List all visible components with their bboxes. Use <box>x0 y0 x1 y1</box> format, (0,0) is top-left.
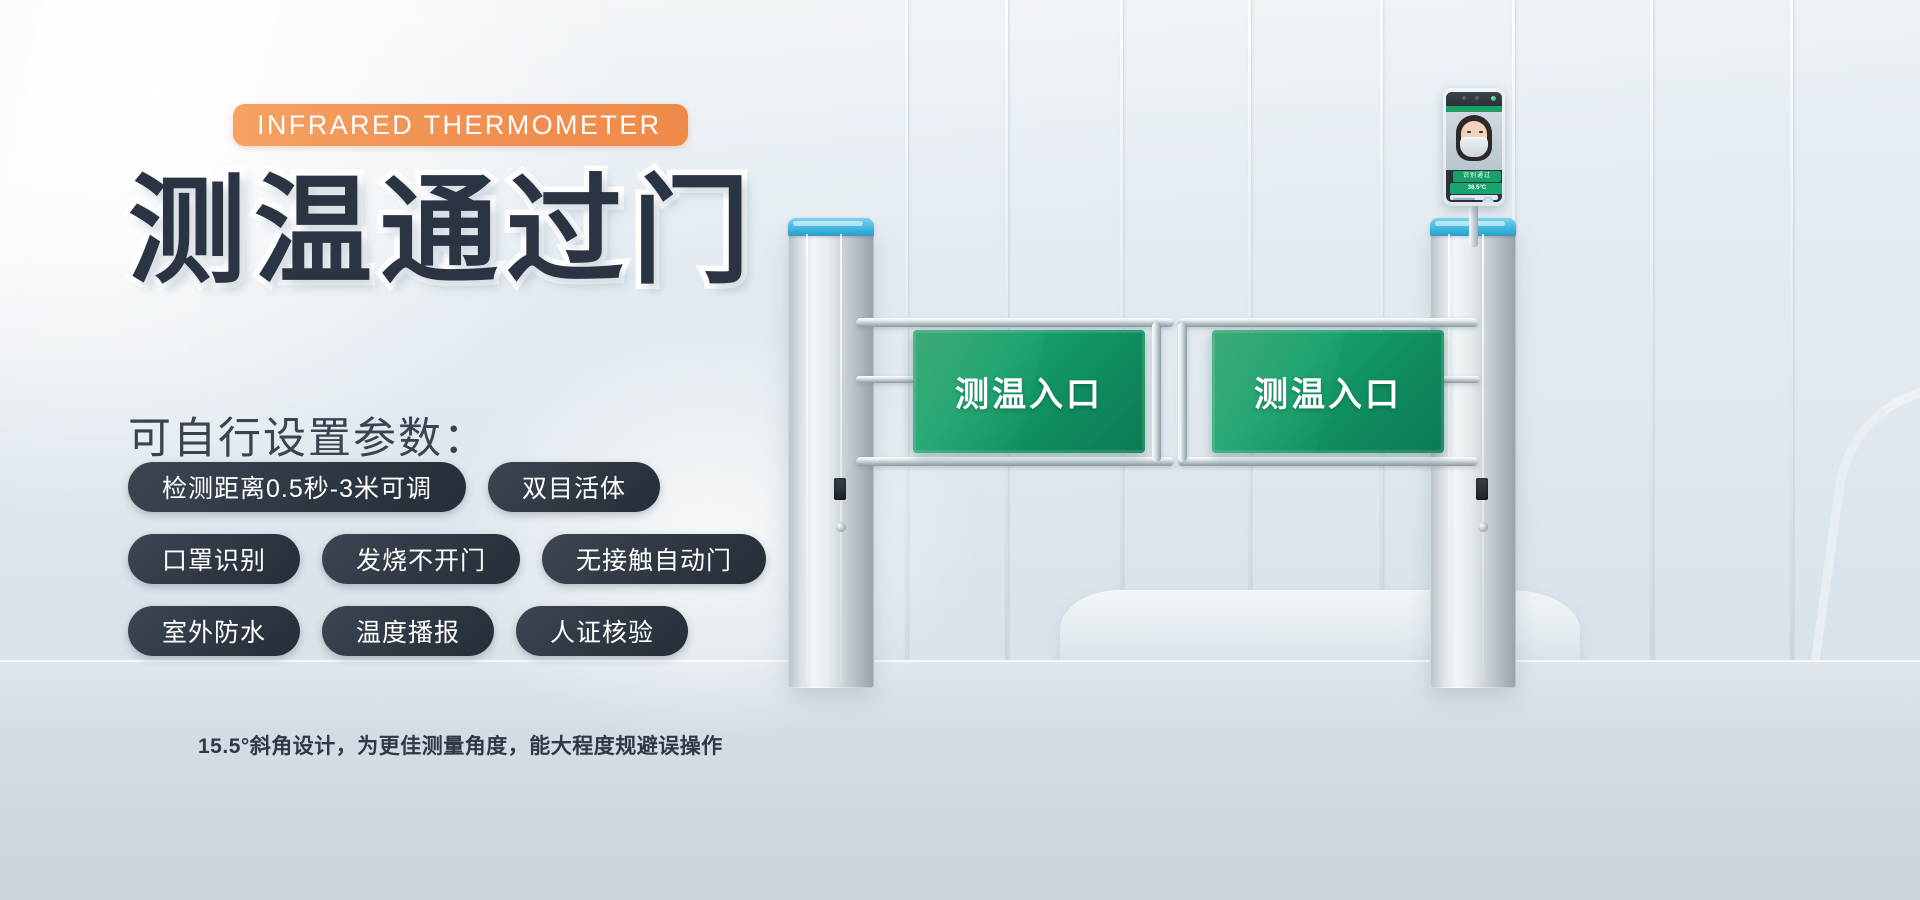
swing-arm-bottom-right <box>1178 457 1478 466</box>
gate-sign-right-text: 测温入口 <box>1254 367 1402 416</box>
eyebrow-text: INFRARED THERMOMETER <box>257 110 662 141</box>
ir-sensor-icon <box>1476 478 1488 500</box>
qr-code-icon <box>1482 197 1494 202</box>
swing-arm-top-right <box>1178 318 1478 327</box>
terminal-status-badge: 识别通过 <box>1453 171 1501 182</box>
terminal-info-line <box>1453 198 1475 200</box>
feature-pill-list: 检测距离0.5秒-3米可调 双目活体 口罩识别 发烧不开门 无接触自动门 室外防… <box>128 462 818 678</box>
feature-pill[interactable]: 口罩识别 <box>128 534 300 584</box>
page-title: 测温通过门 <box>128 163 758 302</box>
face-mask-icon <box>1460 137 1488 157</box>
terminal-info-panel <box>1450 195 1498 200</box>
gate-sign-left: 测温入口 <box>913 330 1145 453</box>
feature-pill-row: 检测距离0.5秒-3米可调 双目活体 <box>128 462 818 512</box>
swing-arm-top-left <box>856 318 1174 327</box>
feature-pill[interactable]: 人证核验 <box>516 606 688 656</box>
detected-face-preview <box>1446 112 1502 170</box>
ir-sensor-icon <box>834 478 846 500</box>
feature-pill-row: 口罩识别 发烧不开门 无接触自动门 <box>128 534 818 584</box>
terminal-temperature: 36.5°C <box>1450 183 1502 194</box>
swing-arm-end-right <box>1178 322 1187 462</box>
status-led-icon <box>836 522 846 532</box>
gate-sign-left-text: 测温入口 <box>955 367 1103 416</box>
pedestal-edge <box>840 234 842 682</box>
status-led-icon <box>1478 522 1488 532</box>
feature-pill[interactable]: 双目活体 <box>488 462 660 512</box>
footnote-text: 15.5°斜角设计，为更佳测量角度，能大程度规避误操作 <box>198 730 723 760</box>
feature-pill[interactable]: 发烧不开门 <box>322 534 520 584</box>
camera-lens-icon <box>1462 96 1467 101</box>
swing-arm-end-left <box>1152 322 1161 462</box>
feature-pill[interactable]: 无接触自动门 <box>542 534 766 584</box>
feature-pill[interactable]: 温度播报 <box>322 606 494 656</box>
subheading: 可自行设置参数： <box>128 404 488 466</box>
face-eye-left <box>1467 131 1471 133</box>
ir-lens-icon <box>1475 96 1480 101</box>
eyebrow-banner: INFRARED THERMOMETER <box>233 104 688 146</box>
marketing-copy: INFRARED THERMOMETER 测温通过门 可自行设置参数： 检测距离… <box>0 0 820 900</box>
feature-pill[interactable]: 检测距离0.5秒-3米可调 <box>128 462 466 512</box>
gate-sign-right: 测温入口 <box>1212 330 1444 453</box>
terminal-pole <box>1469 205 1478 247</box>
pedestal-edge <box>1482 234 1484 682</box>
wall-seam <box>1790 0 1793 660</box>
wall-seam <box>1650 0 1653 660</box>
face-recognition-terminal: 识别通过 36.5°C <box>1443 88 1505 206</box>
terminal-screen: 识别通过 36.5°C <box>1446 92 1502 202</box>
swing-arm-bottom-left <box>856 457 1174 466</box>
feature-pill-row: 室外防水 温度播报 人证核验 <box>128 606 818 656</box>
thermal-sensor-icon <box>1491 96 1496 101</box>
face-eye-right <box>1479 131 1483 133</box>
feature-pill[interactable]: 室外防水 <box>128 606 300 656</box>
